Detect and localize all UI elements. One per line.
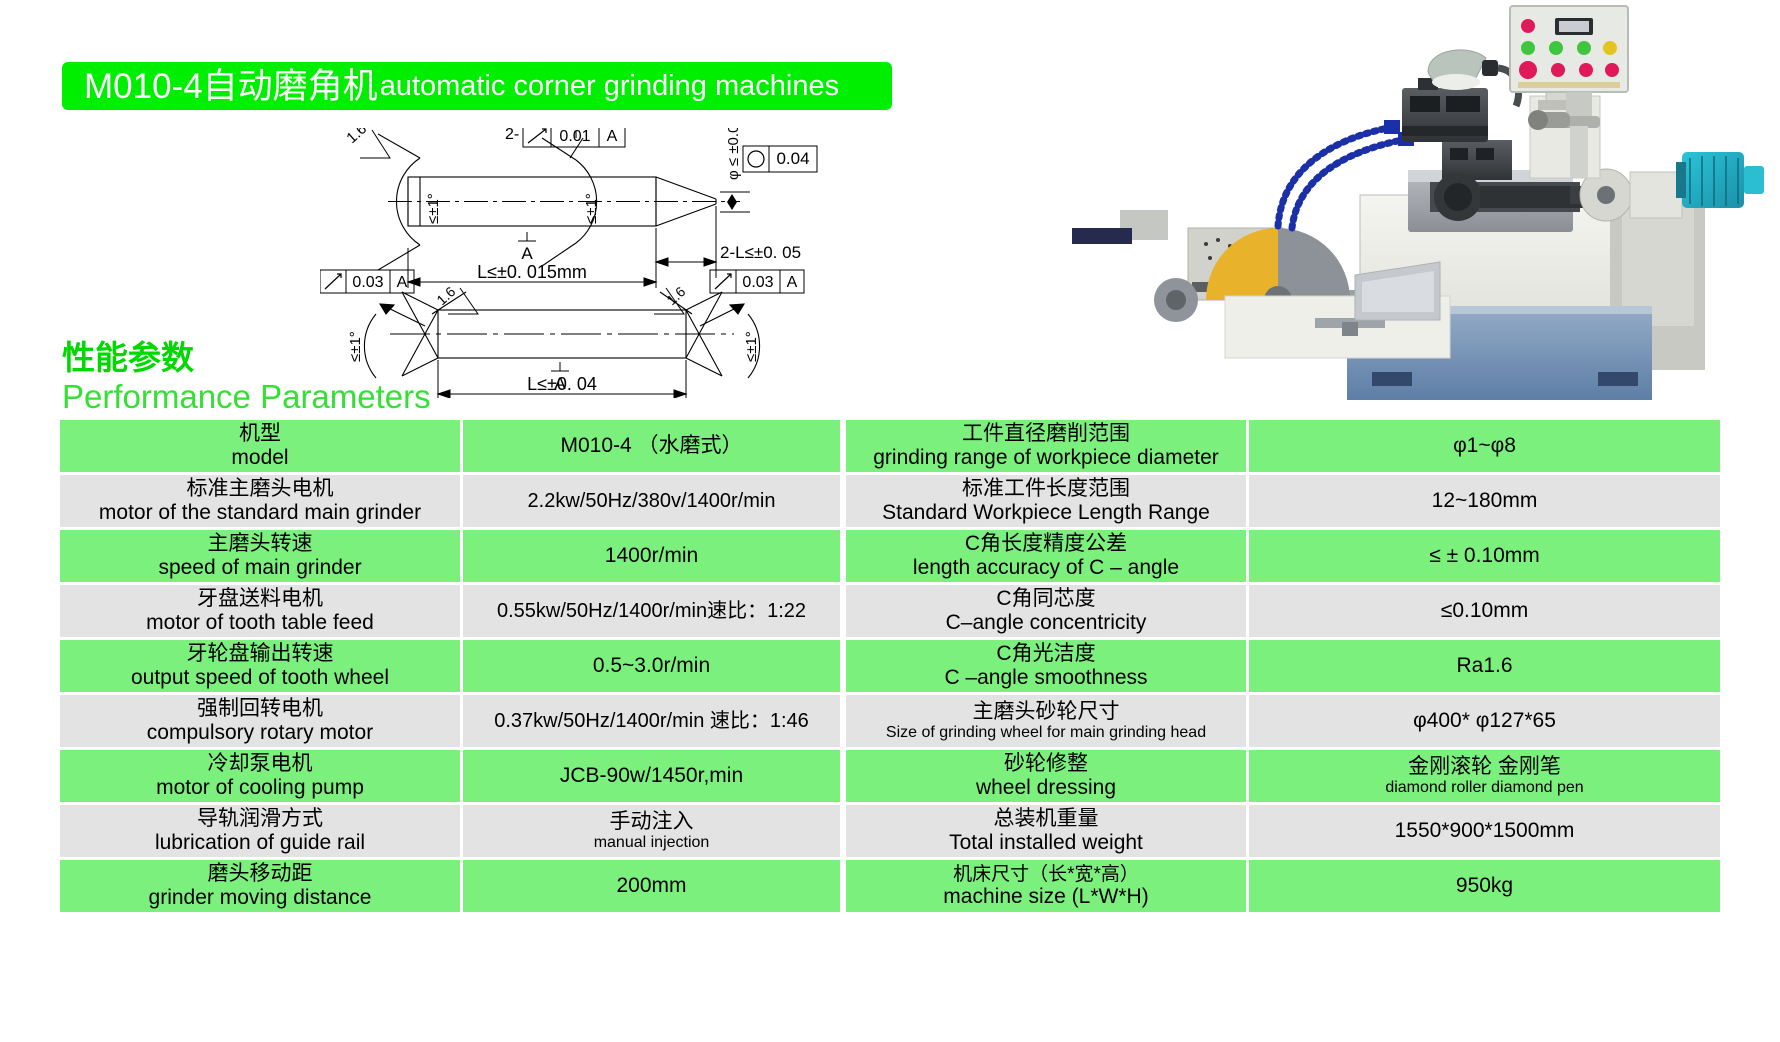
angle-tolerance-1: ≤±1° [425,193,442,224]
spec-label-chinese: 牙轮盘输出转速 [64,642,456,666]
spec-value-cell: 2.2kw/50Hz/380v/1400r/min [460,475,840,530]
spec-label-english: model [64,446,456,470]
spec-table-left: 机型modelM010-4 （水磨式）标准主磨头电机motor of the s… [60,420,840,915]
spec-label-english: C–angle concentricity [850,611,1242,635]
spec-value-cell: 金刚滚轮 金刚笔diamond roller diamond pen [1246,750,1720,805]
spec-value-cell: 1400r/min [460,530,840,585]
spec-label-chinese: 机床尺寸（长*宽*高） [850,864,1242,885]
spec-value-cell: 手动注入manual injection [460,805,840,860]
spec-value: 12~180mm [1253,489,1716,513]
spec-label-chinese: 牙盘送料电机 [64,587,456,611]
spec-label-english: lubrication of guide rail [64,831,456,855]
spec-value: 200mm [467,874,836,898]
spec-label-cell: 牙盘送料电机motor of tooth table feed [60,585,460,640]
length-dimension-bottom: L≤±0. 04 [527,374,597,394]
control-panel [1510,6,1628,128]
section-heading-english: Performance Parameters [62,379,431,416]
spec-value: 1400r/min [467,544,836,568]
spec-label-chinese: 工件直径磨削范围 [850,422,1242,446]
spec-value: ≤ ± 0.10mm [1253,544,1716,568]
dia-tolerance-text: φ ≤ ±0.05 [725,128,742,180]
table-row: 机床尺寸（长*宽*高）machine size (L*W*H)950kg [846,860,1720,915]
angle-tolerance-4: ≤±1° [743,331,760,362]
spec-label-chinese: 总装机重量 [850,807,1242,831]
table-row: C角长度精度公差length accuracy of C – angle≤ ± … [846,530,1720,585]
spec-value: 0.55kw/50Hz/1400r/min速比：1:22 [467,600,836,622]
table-row: 磨头移动距grinder moving distance200mm [60,860,840,915]
spec-value: 2.2kw/50Hz/380v/1400r/min [467,490,836,512]
fcf-datum-left: A [397,274,408,291]
spec-label-english: grinder moving distance [64,886,456,910]
title-banner: M010-4自动磨角机 automatic corner grinding ma… [62,62,892,110]
section-heading-chinese: 性能参数 [62,340,431,377]
table-row: 主磨头砂轮尺寸Size of grinding wheel for main g… [846,695,1720,750]
spec-value-cell: 950kg [1246,860,1720,915]
spec-table-right: 工件直径磨削范围grinding range of workpiece diam… [846,420,1720,915]
machine-photo [1010,0,1780,420]
spec-value-cell: 0.5~3.0r/min [460,640,840,695]
table-row: 砂轮修整wheel dressing金刚滚轮 金刚笔diamond roller… [846,750,1720,805]
table-row: 工件直径磨削范围grinding range of workpiece diam… [846,420,1720,475]
datum-a-top-group [518,232,536,241]
spec-value: JCB-90w/1450r,min [467,764,836,788]
fcf-prefix-top: 2- [505,128,519,143]
spec-value: φ1~φ8 [1253,434,1716,458]
spec-label-chinese: C角长度精度公差 [850,532,1242,556]
table-row: 机型modelM010-4 （水磨式） [60,420,840,475]
table-row: C角光洁度C –angle smoothnessRa1.6 [846,640,1720,695]
table-row: 牙轮盘输出转速output speed of tooth wheel0.5~3.… [60,640,840,695]
spec-label-chinese: 标准工件长度范围 [850,477,1242,501]
fcf-box-bottom-right: 0.03 A [710,270,804,293]
spec-label-cell: 牙轮盘输出转速output speed of tooth wheel [60,640,460,695]
spec-label-english: Total installed weight [850,831,1242,855]
spec-label-english: Size of grinding wheel for main grinding… [850,724,1242,742]
spec-value: 0.5~3.0r/min [467,654,836,678]
spec-label-chinese: 标准主磨头电机 [64,477,456,501]
spec-value: 1550*900*1500mm [1253,819,1716,843]
spec-value-cell: 200mm [460,860,840,915]
spec-label-english: motor of the standard main grinder [64,501,456,525]
spec-label-cell: 主磨头转速speed of main grinder [60,530,460,585]
spec-value: Ra1.6 [1253,654,1716,678]
spec-label-chinese: 导轨润滑方式 [64,807,456,831]
spec-label-cell: C角光洁度C –angle smoothness [846,640,1246,695]
spec-label-cell: 标准主磨头电机motor of the standard main grinde… [60,475,460,530]
spec-value-cell: JCB-90w/1450r,min [460,750,840,805]
spec-label-english: speed of main grinder [64,556,456,580]
fcf-datum-right: A [787,274,798,291]
spec-label-chinese: 主磨头砂轮尺寸 [850,700,1242,724]
spec-label-chinese: 砂轮修整 [850,752,1242,776]
spec-value: ≤0.10mm [1253,599,1716,623]
machine-photo-svg [1010,0,1780,420]
spec-value-cell: ≤ ± 0.10mm [1246,530,1720,585]
spec-label-cell: 冷却泵电机motor of cooling pump [60,750,460,805]
fcf-box-bottom-left: 0.03 A [320,270,414,293]
dia-tolerance-group: φ ≤ ±0.05 0.04 [720,128,817,212]
surface-finish-label-3: 1.6 [663,283,688,308]
spec-label-cell: 强制回转电机compulsory rotary motor [60,695,460,750]
spec-label-cell: C角同芯度C–angle concentricity [846,585,1246,640]
spec-value-cell: 0.37kw/50Hz/1400r/min 速比：1:46 [460,695,840,750]
spec-label-chinese: 磨头移动距 [64,862,456,886]
spec-value-cell: φ1~φ8 [1246,420,1720,475]
spec-label-english: output speed of tooth wheel [64,666,456,690]
spec-label-english: wheel dressing [850,776,1242,800]
fcf-value-left: 0.03 [352,274,383,291]
fcf-box-top: 2- 0.01 A [505,128,625,147]
flatness-value: 0.04 [776,149,809,168]
spec-table-left-body: 机型modelM010-4 （水磨式）标准主磨头电机motor of the s… [60,420,840,915]
fcf-value-top: 0.01 [559,128,590,145]
spec-label-cell: 标准工件长度范围Standard Workpiece Length Range [846,475,1246,530]
table-row: C角同芯度C–angle concentricity≤0.10mm [846,585,1720,640]
spec-value: φ400* φ127*65 [1253,709,1716,733]
spec-label-english: motor of cooling pump [64,776,456,800]
spec-label-english: motor of tooth table feed [64,611,456,635]
table-row: 总装机重量Total installed weight1550*900*1500… [846,805,1720,860]
spec-label-cell: 砂轮修整wheel dressing [846,750,1246,805]
spec-label-cell: 总装机重量Total installed weight [846,805,1246,860]
surface-finish-label-2: 1.6 [433,283,458,308]
spec-value-cell: 1550*900*1500mm [1246,805,1720,860]
table-row: 导轨润滑方式lubrication of guide rail手动注入manua… [60,805,840,860]
table-row: 强制回转电机compulsory rotary motor0.37kw/50Hz… [60,695,840,750]
spec-label-chinese: C角光洁度 [850,642,1242,666]
spec-value: 手动注入 [467,810,836,834]
table-row: 标准工件长度范围Standard Workpiece Length Range1… [846,475,1720,530]
surface-finish-label-1: 1.6 [343,128,370,147]
spec-value-cell: Ra1.6 [1246,640,1720,695]
spec-label-chinese: C角同芯度 [850,587,1242,611]
spec-value: 950kg [1253,874,1716,898]
title-english: automatic corner grinding machines [380,72,839,101]
spec-label-chinese: 主磨头转速 [64,532,456,556]
title-chinese: M010-4自动磨角机 [84,69,378,104]
spec-label-english: Standard Workpiece Length Range [850,501,1242,525]
spec-label-english: compulsory rotary motor [64,721,456,745]
spec-label-cell: C角长度精度公差length accuracy of C – angle [846,530,1246,585]
spec-value-sub: diamond roller diamond pen [1253,779,1716,797]
spec-label-cell: 机型model [60,420,460,475]
table-row: 主磨头转速speed of main grinder1400r/min [60,530,840,585]
spec-label-cell: 工件直径磨削范围grinding range of workpiece diam… [846,420,1246,475]
table-row: 冷却泵电机motor of cooling pumpJCB-90w/1450r,… [60,750,840,805]
spec-value-cell: M010-4 （水磨式） [460,420,840,475]
spec-value-cell: ≤0.10mm [1246,585,1720,640]
spec-label-english: length accuracy of C – angle [850,556,1242,580]
spec-label-english: C –angle smoothness [850,666,1242,690]
fcf-datum-top: A [607,128,618,145]
spec-label-cell: 磨头移动距grinder moving distance [60,860,460,915]
spec-value-sub: manual injection [467,834,836,852]
spec-label-cell: 机床尺寸（长*宽*高）machine size (L*W*H) [846,860,1246,915]
datum-a-bottom-group [551,362,569,371]
length-dimension-right: 2-L≤±0. 05 [720,243,801,262]
spec-label-chinese: 机型 [64,422,456,446]
table-row: 标准主磨头电机motor of the standard main grinde… [60,475,840,530]
spec-table-right-body: 工件直径磨削范围grinding range of workpiece diam… [846,420,1720,915]
spec-label-chinese: 强制回转电机 [64,697,456,721]
length-dimension-top: L≤±0. 015mm [477,262,587,282]
fcf-value-right: 0.03 [742,274,773,291]
spec-value-cell: 0.55kw/50Hz/1400r/min速比：1:22 [460,585,840,640]
angle-tolerance-2: ≤±1° [583,193,600,224]
datum-a-top: A [521,244,533,263]
spec-value: 0.37kw/50Hz/1400r/min 速比：1:46 [467,710,836,732]
drive-motor [1676,152,1764,208]
spec-label-cell: 主磨头砂轮尺寸Size of grinding wheel for main g… [846,695,1246,750]
spec-label-english: machine size (L*W*H) [850,885,1242,909]
table-row: 牙盘送料电机motor of tooth table feed0.55kw/50… [60,585,840,640]
spec-value-cell: 12~180mm [1246,475,1720,530]
spec-label-chinese: 冷却泵电机 [64,752,456,776]
spec-label-english: grinding range of workpiece diameter [850,446,1242,470]
parts-tray [1072,210,1168,244]
spec-value: M010-4 （水磨式） [467,434,836,458]
spec-value: 金刚滚轮 金刚笔 [1253,755,1716,779]
spec-label-cell: 导轨润滑方式lubrication of guide rail [60,805,460,860]
section-heading: 性能参数 Performance Parameters [62,340,431,416]
spec-value-cell: φ400* φ127*65 [1246,695,1720,750]
